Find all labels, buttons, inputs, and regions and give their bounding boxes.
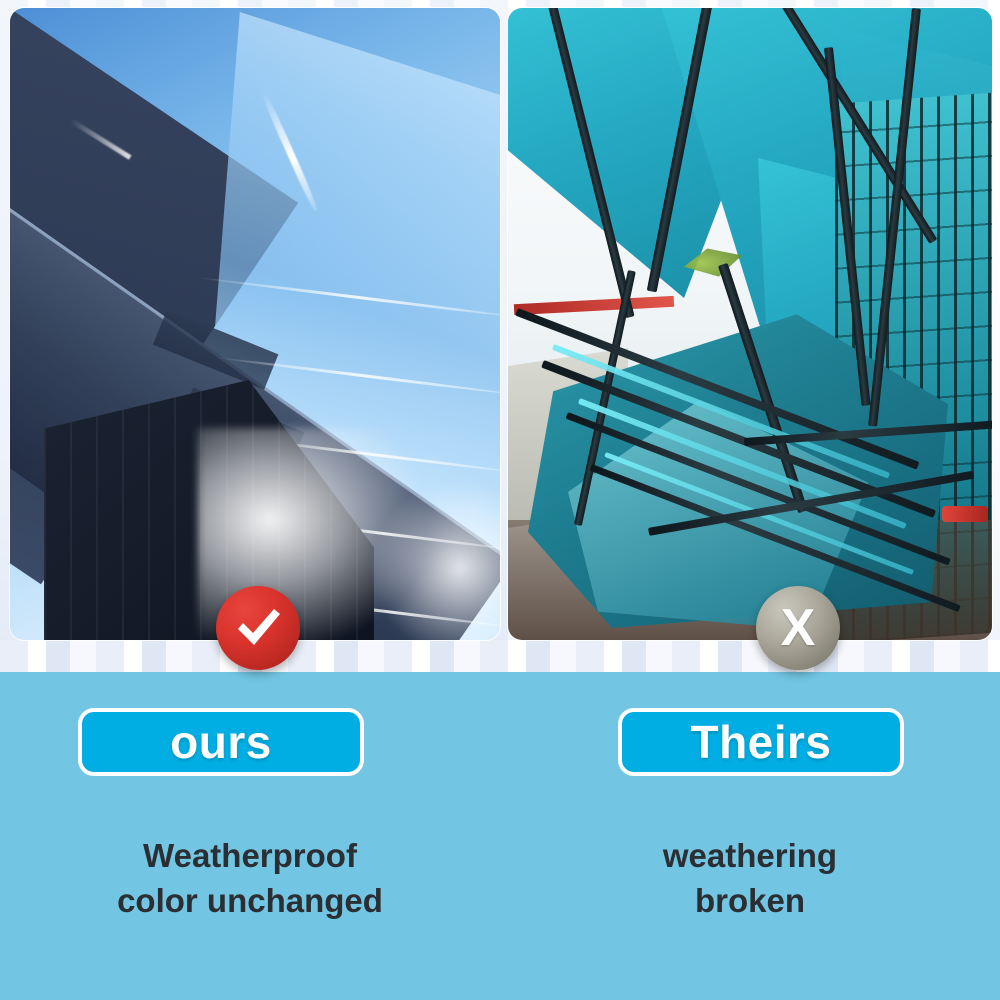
left-column: ours Weatherproof color unchanged bbox=[0, 672, 500, 1000]
left-photo-frame bbox=[10, 8, 500, 640]
right-column: Theirs weathering broken bbox=[500, 672, 1000, 1000]
left-caption-line-1: Weatherproof bbox=[0, 834, 500, 879]
left-caption: Weatherproof color unchanged bbox=[0, 834, 566, 923]
x-icon-label: X bbox=[781, 602, 816, 654]
right-caption: weathering broken bbox=[500, 834, 1000, 923]
red-clip bbox=[942, 506, 988, 522]
ours-label-text: ours bbox=[170, 719, 272, 765]
caption-band: ours Weatherproof color unchanged Theirs… bbox=[0, 672, 1000, 1000]
left-caption-line-2: color unchanged bbox=[0, 879, 500, 924]
theirs-label-pill: Theirs bbox=[618, 708, 904, 776]
right-photo bbox=[508, 8, 992, 640]
right-caption-line-2: broken bbox=[500, 879, 1000, 924]
theirs-label-text: Theirs bbox=[690, 719, 831, 765]
right-caption-line-1: weathering bbox=[500, 834, 1000, 879]
photo-area: X bbox=[0, 0, 1000, 672]
left-photo bbox=[10, 8, 500, 640]
sun-glare bbox=[370, 478, 500, 640]
check-icon bbox=[216, 586, 300, 670]
comparison-infographic: X ours Weatherproof color unchanged Thei… bbox=[0, 0, 1000, 1000]
ours-label-pill: ours bbox=[78, 708, 364, 776]
right-photo-frame bbox=[508, 8, 992, 640]
x-icon: X bbox=[756, 586, 840, 670]
